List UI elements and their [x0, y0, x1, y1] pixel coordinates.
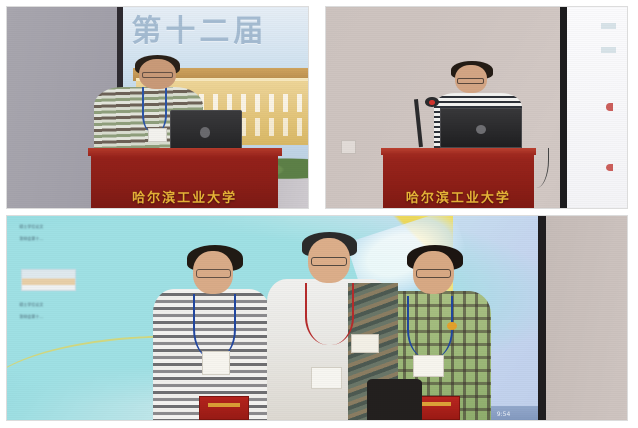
eyeglasses-icon: [142, 72, 172, 78]
screen-red-marker: [606, 103, 614, 110]
lanyard: [142, 87, 166, 131]
photo-panel-top-left: 第十二届 哈尔滨工业大学: [6, 6, 309, 209]
laptop: [440, 108, 521, 148]
eyeglasses-icon: [311, 257, 347, 266]
photo-collage: 第十二届 哈尔滨工业大学 哈尔滨工业大学: [0, 0, 638, 428]
name-badge: [148, 128, 166, 142]
person-middle-pocket-badge: [351, 334, 379, 352]
slide-text-line: 硕士学位论文: [19, 302, 93, 308]
screen-red-marker: [606, 164, 614, 171]
person-middle-lanyard: [305, 283, 355, 344]
person-left-lanyard: [193, 294, 236, 359]
podium-institution-text: 哈尔滨工业大学: [383, 187, 534, 206]
slide-thumbnail-box: [21, 269, 77, 291]
podium-top-edge: [381, 148, 536, 155]
slide-text-line: 答辩会第十…: [19, 314, 93, 320]
photo-panel-bottom: 硕士学位论文 答辩会第十… 硕士学位论文 答辩会第十… 9:54: [6, 215, 628, 421]
person-right-name-badge: [413, 355, 444, 377]
person-middle-bag: [367, 379, 423, 420]
room-wall-right: [546, 216, 627, 420]
screen-dark-edge: [538, 216, 547, 420]
side-projection-screen: [567, 7, 627, 208]
photo-panel-top-right: 哈尔滨工业大学: [325, 6, 628, 209]
screen-content-mark: [601, 23, 616, 29]
eyeglasses-icon: [416, 269, 451, 278]
podium-institution-text: 哈尔滨工业大学: [91, 187, 278, 206]
podium-top-edge: [88, 148, 282, 156]
person-left-name-badge: [202, 351, 230, 375]
eyeglasses-icon: [196, 269, 231, 278]
slide-banner-title: 第十二届: [127, 11, 308, 45]
slide-text-line: 答辩会第十…: [19, 236, 93, 242]
screen-dark-edge: [560, 7, 567, 208]
eyeglasses-icon: [457, 78, 484, 84]
slide-text-line: 硕士学位论文: [19, 224, 93, 230]
podium: 哈尔滨工业大学: [383, 148, 534, 208]
person-left-certificate: [199, 396, 249, 420]
podium: 哈尔滨工业大学: [91, 148, 278, 208]
screen-content-mark: [601, 47, 616, 53]
person-middle-name-badge: [311, 367, 342, 389]
wall-outlet: [341, 140, 356, 154]
screen-clock: 9:54: [497, 411, 510, 418]
